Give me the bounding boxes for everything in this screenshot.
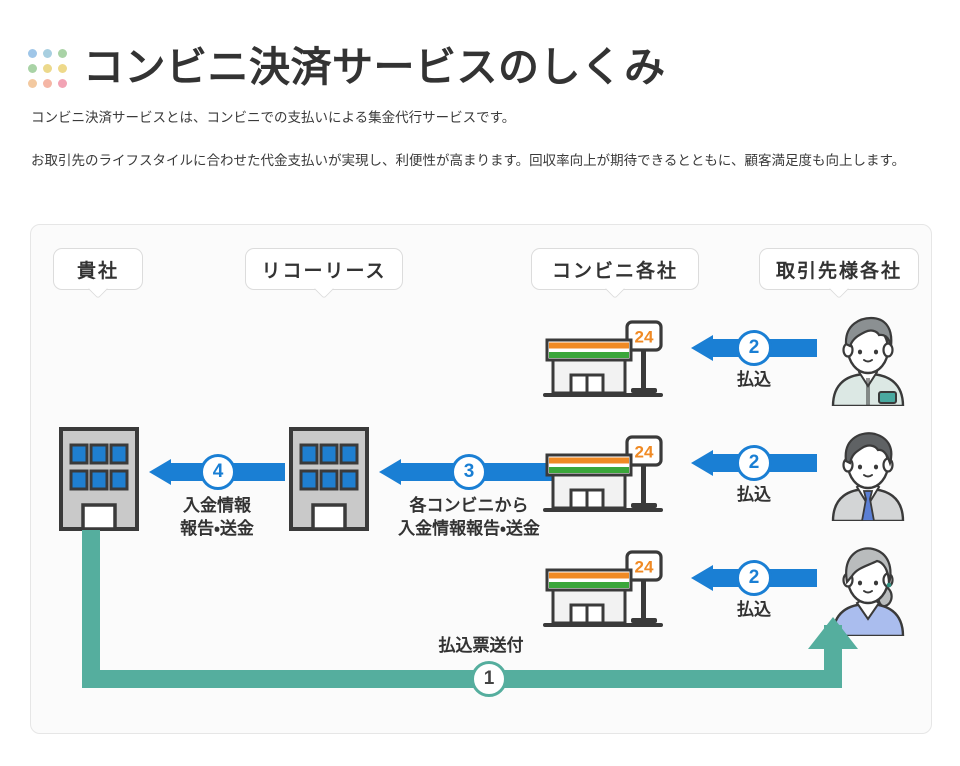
arrow-head [379,459,401,485]
green-path-horizontal-bottom [82,670,842,688]
svg-text:24: 24 [635,558,654,577]
intro-paragraph-2: お取引先のライフスタイルに合わせた代金支払いが実現し、利便性が高まります。回収率… [31,149,933,174]
flow-arrow-2-row1: 2 [691,335,817,361]
flow-step-badge-4: 4 [200,454,236,490]
flow-step-badge-2: 2 [736,445,772,481]
page-title: コンビニ決済サービスのしくみ [83,45,666,90]
page-header: コンビニ決済サービスのしくみ [28,18,666,118]
convenience-store-icon-row3: 24 [541,550,669,630]
green-path-arrow-head [808,617,858,649]
flow-arrow-2-row2: 2 [691,450,817,476]
flow-step-badge-3: 3 [451,454,487,490]
dot-6 [58,64,67,73]
flow-step-badge-2: 2 [736,560,772,596]
flow-caption-1: 払込票送付 [381,635,581,658]
flow-caption-4-line2: 報告・送金 [139,518,295,541]
dot-9 [58,79,67,88]
arrow-head [691,565,713,591]
person-businessman-necktie [821,427,915,521]
dot-8 [43,79,52,88]
convenience-store-icon-row1: 24 [541,320,669,400]
flow-arrow-2-row3: 2 [691,565,817,591]
dot-7 [28,79,37,88]
arrow-head [149,459,171,485]
flow-diagram: 貴社 リコーリース コンビニ各社 取引先様各社 24 [30,224,932,734]
flow-step-badge-2: 2 [736,330,772,366]
dot-grid-icon [28,49,67,88]
flow-arrow-4: 4 [149,459,285,485]
page-root: コンビニ決済サービスのしくみ コンビニ決済サービスとは、コンビニでの支払いによる… [0,0,960,766]
dot-2 [43,49,52,58]
office-building-icon-ricoh-lease [283,425,375,533]
green-path-vertical-left [82,530,100,688]
flow-caption-2-row3: 払込 [691,599,817,622]
arrow-head [691,335,713,361]
flow-caption-2-row2: 払込 [691,484,817,507]
column-label-ricoh-lease: リコーリース [245,248,403,290]
svg-text:24: 24 [635,443,654,462]
dot-3 [58,49,67,58]
dot-5 [43,64,52,73]
intro-paragraph-1: コンビニ決済サービスとは、コンビニでの支払いによる集金代行サービスです。 [31,106,933,131]
svg-text:24: 24 [635,328,654,347]
flow-step-badge-1: 1 [471,661,507,697]
flow-caption-3: 各コンビニから 入金情報報告・送金 [369,495,569,541]
flow-caption-3-line2: 入金情報報告・送金 [369,518,569,541]
person-gray-hair-staff [821,312,915,406]
flow-caption-4: 入金情報 報告・送金 [139,495,295,541]
column-label-convenience-stores: コンビニ各社 [531,248,699,290]
convenience-store-icon-row2: 24 [541,435,669,515]
flow-arrow-3: 3 [379,459,559,485]
flow-caption-3-line1: 各コンビニから [369,495,569,518]
office-building-icon-kisha [53,425,145,533]
flow-caption-4-line1: 入金情報 [139,495,295,518]
dot-4 [28,64,37,73]
column-label-customers: 取引先様各社 [759,248,919,290]
flow-caption-2-row1: 払込 [691,369,817,392]
dot-1 [28,49,37,58]
column-label-kisha: 貴社 [53,248,143,290]
intro-text: コンビニ決済サービスとは、コンビニでの支払いによる集金代行サービスです。 お取引… [31,106,933,192]
arrow-head [691,450,713,476]
